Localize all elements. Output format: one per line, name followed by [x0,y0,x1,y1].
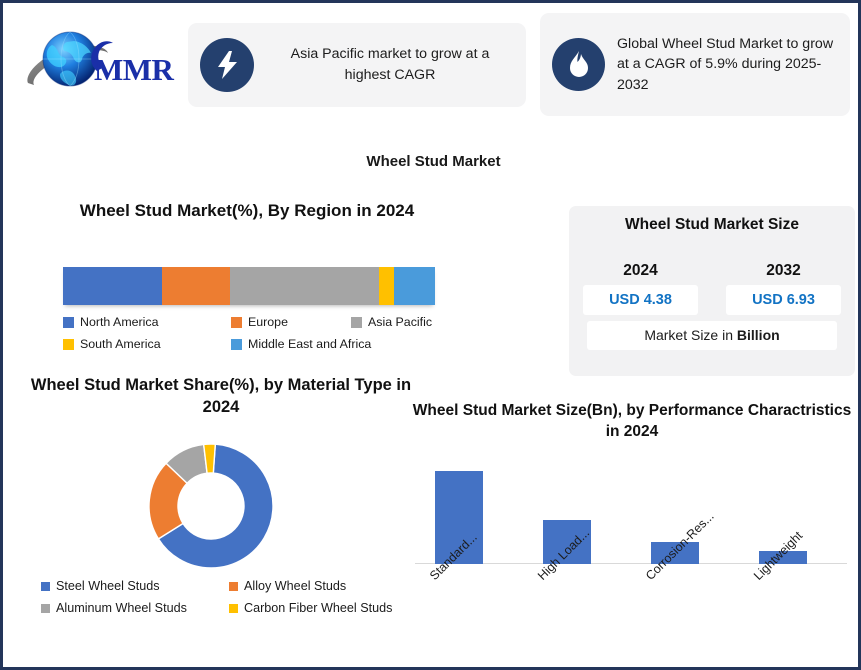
region-stacked-bar [63,267,435,305]
header: MMR Asia Pacific market to grow at a hig… [3,11,861,123]
market-size-unit-bold: Billion [737,327,780,343]
market-size-values: 2024 USD 4.38 2032 USD 6.93 [569,262,855,315]
market-size-value: USD 6.93 [726,285,841,315]
brand-name: MMR [94,52,173,88]
region-segment-north-america [63,267,162,305]
performance-chart-title: Wheel Stud Market Size(Bn), by Performan… [407,401,857,443]
legend-item: Carbon Fiber Wheel Studs [229,601,419,615]
flame-icon [552,38,605,91]
legend-swatch-icon [41,604,50,613]
region-legend: North America Europe Asia Pacific South … [63,315,493,359]
legend-label: Carbon Fiber Wheel Studs [244,601,392,615]
market-size-col-2024: 2024 USD 4.38 [569,262,712,315]
legend-label: Steel Wheel Studs [56,579,160,593]
material-chart-title: Wheel Stud Market Share(%), by Material … [21,375,421,419]
market-size-col-2032: 2032 USD 6.93 [712,262,855,315]
lightning-bolt-icon [200,38,254,92]
legend-label: Alloy Wheel Studs [244,579,346,593]
legend-item: Asia Pacific [351,315,481,329]
legend-swatch-icon [41,582,50,591]
market-size-year: 2032 [712,262,855,280]
legend-label: South America [80,337,161,351]
highlight-text-2: Global Wheel Stud Market to grow at a CA… [617,34,838,96]
region-chart-title: Wheel Stud Market(%), By Region in 2024 [27,201,467,221]
market-size-title: Wheel Stud Market Size [569,206,855,234]
legend-swatch-icon [229,604,238,613]
page-title: Wheel Stud Market [3,153,861,170]
legend-label: North America [80,315,159,329]
legend-item: Steel Wheel Studs [41,579,229,593]
legend-item: Aluminum Wheel Studs [41,601,229,615]
market-size-unit-prefix: Market Size in [644,327,737,343]
region-segment-europe [162,267,231,305]
legend-swatch-icon [63,339,74,350]
highlight-text-1: Asia Pacific market to grow at a highest… [266,44,514,85]
highlight-card-1: Asia Pacific market to grow at a highest… [188,23,526,107]
legend-swatch-icon [229,582,238,591]
donut-chart [146,441,276,571]
legend-label: Middle East and Africa [248,337,371,351]
legend-label: Asia Pacific [368,315,432,329]
highlight-card-2: Global Wheel Stud Market to grow at a CA… [540,13,850,116]
legend-item: Europe [231,315,351,329]
legend-item: South America [63,337,231,351]
brand-logo: MMR [3,11,188,116]
market-size-unit-note: Market Size in Billion [587,321,837,350]
performance-chart: Wheel Stud Market Size(Bn), by Performan… [407,401,857,651]
region-segment-middle-east-africa [394,267,435,305]
region-segment-south-america [379,267,394,305]
material-type-chart: Wheel Stud Market Share(%), by Material … [21,375,431,419]
legend-swatch-icon [231,339,242,350]
legend-swatch-icon [231,317,242,328]
market-size-value: USD 4.38 [583,285,698,315]
infographic-page: MMR Asia Pacific market to grow at a hig… [0,0,861,670]
material-legend: Steel Wheel Studs Alloy Wheel Studs Alum… [41,579,431,623]
region-segment-asia-pacific [230,267,379,305]
legend-item: Alloy Wheel Studs [229,579,409,593]
legend-item: North America [63,315,231,329]
legend-label: Europe [248,315,288,329]
legend-swatch-icon [351,317,362,328]
performance-x-labels: Standard... High Load... Corrosion-Res..… [415,569,847,649]
market-size-year: 2024 [569,262,712,280]
legend-item: Middle East and Africa [231,337,431,351]
market-size-card: Wheel Stud Market Size 2024 USD 4.38 203… [569,206,855,376]
region-chart: Wheel Stud Market(%), By Region in 2024 … [27,201,497,221]
legend-swatch-icon [63,317,74,328]
legend-label: Aluminum Wheel Studs [56,601,187,615]
